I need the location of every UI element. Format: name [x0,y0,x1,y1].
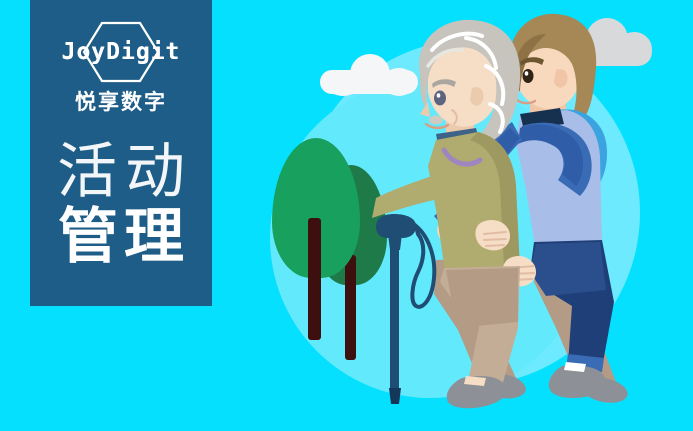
walking-cane-icon [376,214,434,404]
title-panel: JoyDigit 悦享数字 活动 管理 [30,0,212,306]
brand-logo: JoyDigit [51,24,191,80]
poster-canvas: JoyDigit 悦享数字 活动 管理 [0,0,693,431]
walking-pair-illustration [370,10,690,410]
page-title-line-1: 活动 [49,142,193,203]
brand-wordmark: JoyDigit [62,39,181,65]
page-title: 活动 管理 [49,142,193,268]
brand-subtitle: 悦享数字 [75,86,167,116]
page-title-line-2: 管理 [52,207,190,268]
